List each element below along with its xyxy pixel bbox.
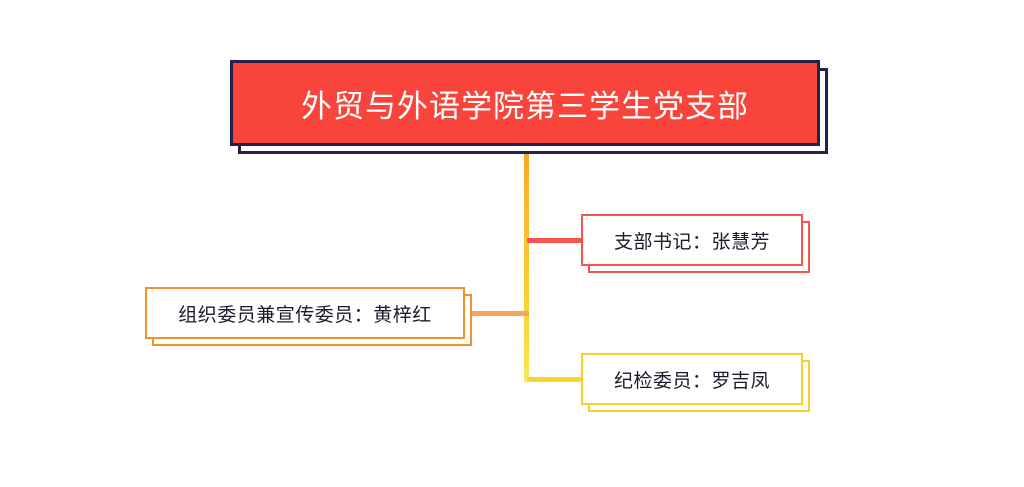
connector-branch-secretary xyxy=(527,238,583,243)
node-organization-publicity-label: 组织委员兼宣传委员：黄梓红 xyxy=(178,300,432,327)
connector-branch-discipline xyxy=(527,377,583,382)
root-node-branch-title[interactable]: 外贸与外语学院第三学生党支部 xyxy=(230,60,820,146)
node-discipline-inspection-box[interactable]: 纪检委员：罗吉凤 xyxy=(581,353,803,405)
connector-trunk-vertical xyxy=(524,150,529,382)
diagram-canvas: 外贸与外语学院第三学生党支部 支部书记：张慧芳 组织委员兼宣传委员：黄梓红 纪检… xyxy=(0,0,1024,487)
connector-branch-organization xyxy=(470,311,529,316)
node-secretary-label: 支部书记：张慧芳 xyxy=(614,227,770,254)
node-secretary[interactable]: 支部书记：张慧芳 xyxy=(581,214,803,266)
node-discipline-inspection-label: 纪检委员：罗吉凤 xyxy=(614,366,770,393)
node-organization-publicity-box[interactable]: 组织委员兼宣传委员：黄梓红 xyxy=(145,287,465,339)
root-node-label: 外贸与外语学院第三学生党支部 xyxy=(301,81,749,126)
node-secretary-box[interactable]: 支部书记：张慧芳 xyxy=(581,214,803,266)
node-organization-publicity[interactable]: 组织委员兼宣传委员：黄梓红 xyxy=(145,287,465,339)
node-discipline-inspection[interactable]: 纪检委员：罗吉凤 xyxy=(581,353,803,405)
